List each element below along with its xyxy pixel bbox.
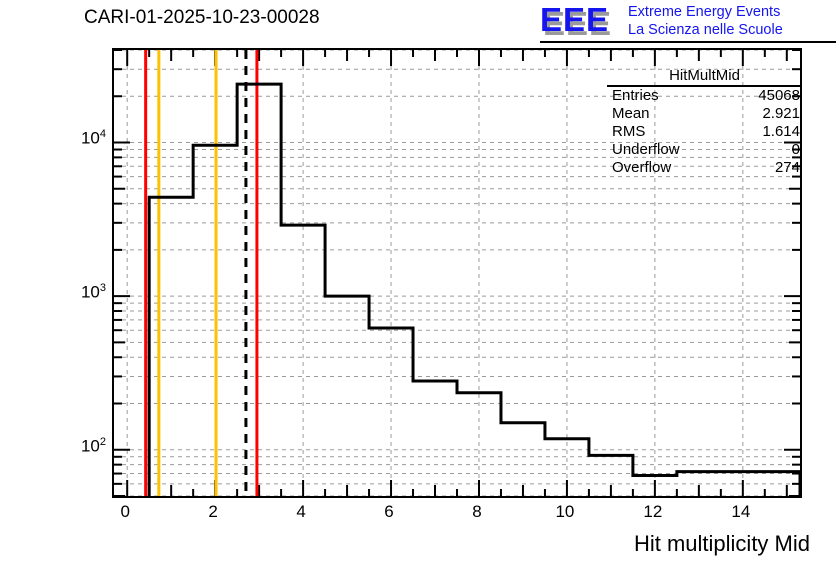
x-axis-title: Hit multiplicity Mid (634, 531, 810, 557)
page-title: CARI-01-2025-10-23-00028 (84, 7, 320, 29)
y-tick-exponent: 4 (100, 128, 106, 140)
y-tick-label: 102 (58, 436, 106, 457)
stats-rows: Entries45068Mean2.921RMS1.614Underflow0O… (607, 87, 802, 177)
x-tick-label: 4 (286, 502, 316, 522)
y-tick-exponent: 3 (100, 282, 106, 294)
eee-logo-line2: La Scienza nelle Scuole (628, 22, 783, 38)
y-tick-label: 103 (58, 282, 106, 303)
eee-logo: EEE Extreme Energy Events La Scienza nel… (540, 2, 834, 42)
stats-row: Underflow0 (607, 141, 802, 159)
y-tick-mantissa: 10 (81, 283, 100, 302)
y-tick-mantissa: 10 (81, 129, 100, 148)
stats-row-value: 0 (792, 142, 800, 158)
stats-row: Overflow274 (607, 159, 802, 177)
x-tick-label: 8 (462, 502, 492, 522)
stats-title: HitMultMid (607, 67, 802, 87)
stats-row-value: 1.614 (762, 124, 800, 140)
histogram-canvas: CARI-01-2025-10-23-00028 EEE Extreme Ene… (0, 0, 836, 572)
stats-box: HitMultMid Entries45068Mean2.921RMS1.614… (607, 67, 802, 177)
stats-row: Mean2.921 (607, 105, 802, 123)
stats-row-value: 2.921 (762, 106, 800, 122)
y-tick-label: 104 (58, 128, 106, 149)
stats-row-value: 45068 (758, 88, 800, 104)
header-divider (540, 41, 836, 43)
stats-row-key: Underflow (612, 142, 680, 158)
stats-row-value: 274 (775, 160, 800, 176)
stats-row-key: Entries (612, 88, 659, 104)
x-tick-label: 0 (110, 502, 140, 522)
stats-row-key: RMS (612, 124, 645, 140)
stats-row-key: Overflow (612, 160, 671, 176)
eee-logo-mark: EEE (540, 3, 609, 36)
stats-row: RMS1.614 (607, 123, 802, 141)
x-tick-label: 10 (550, 502, 580, 522)
x-tick-label: 2 (198, 502, 228, 522)
x-tick-label: 14 (726, 502, 756, 522)
eee-logo-line1: Extreme Energy Events (628, 4, 780, 20)
y-tick-exponent: 2 (100, 436, 106, 448)
x-tick-label: 6 (374, 502, 404, 522)
stats-row-key: Mean (612, 106, 650, 122)
stats-row: Entries45068 (607, 87, 802, 105)
x-tick-label: 12 (638, 502, 668, 522)
y-tick-mantissa: 10 (81, 436, 100, 455)
